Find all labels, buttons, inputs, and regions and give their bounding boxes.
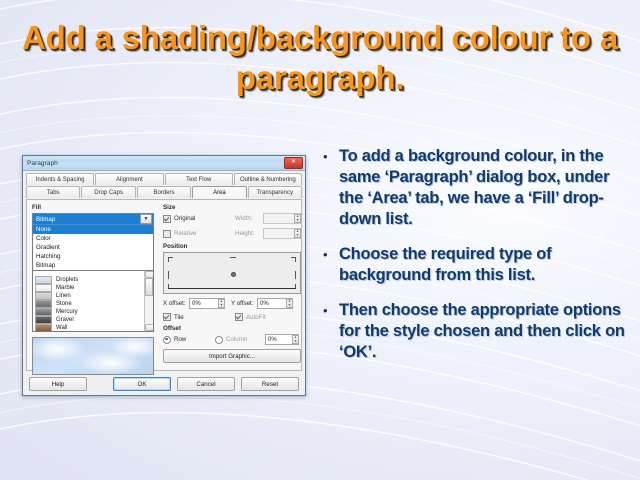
anchor-baseline (168, 288, 296, 289)
bitmap-swatch-icon (35, 308, 52, 316)
fill-option-gradient[interactable]: Gradient (33, 243, 153, 252)
y-offset-input[interactable]: 0% ▲▼ (257, 298, 293, 309)
size-section-label: Size (163, 204, 301, 211)
y-offset-label: Y offset: (231, 300, 257, 307)
bitmap-item-label: Gravel (56, 317, 74, 323)
scroll-up-icon[interactable]: ▲ (145, 271, 154, 278)
fill-section-label: Fill (32, 204, 154, 211)
anchor-top-right[interactable] (291, 257, 296, 262)
fill-section: Fill Bitmap ▼ None Color Gradient Hatchi… (32, 204, 154, 375)
offset-column-label: Column (226, 336, 247, 343)
help-button[interactable]: Help (29, 377, 87, 391)
width-label: Width: (235, 215, 263, 222)
size-position-section: Size Original Width: ▲▼ Relative Height: (163, 204, 301, 363)
tile-label: Tile (174, 314, 184, 321)
bullet-item: • To add a background colour, in the sam… (320, 146, 626, 230)
bitmap-item-label: Wall (56, 325, 67, 331)
cancel-button[interactable]: Cancel (177, 377, 235, 391)
anchor-middle-right[interactable] (291, 271, 296, 279)
relative-label: Relative (174, 230, 196, 237)
dialog-footer: Help OK Cancel Reset (23, 373, 305, 395)
bitmap-item-wall[interactable]: Wall (33, 324, 144, 332)
bitmap-list-items: Droplets Marble Linen Stone (33, 271, 144, 331)
tab-tabs[interactable]: Tabs (26, 186, 80, 198)
bitmap-item-label: Stone (56, 301, 72, 307)
tab-alignment[interactable]: Alignment (95, 173, 163, 185)
bitmap-item-stone[interactable]: Stone (33, 300, 144, 308)
scroll-down-icon[interactable]: ▼ (145, 324, 154, 331)
bullet-text: To add a background colour, in the same … (339, 146, 626, 230)
offset-row-column-row: Row Column 0% ▲▼ (163, 334, 301, 345)
dialog-title: Paragraph (27, 160, 284, 167)
height-input[interactable]: ▲▼ (263, 228, 301, 239)
bitmap-item-label: Marble (56, 285, 74, 291)
bullet-item: • Then choose the appropriate options fo… (320, 300, 626, 363)
autofit-label: AutoFit (246, 314, 266, 321)
position-anchor-grid[interactable] (163, 252, 301, 294)
offset-value-input[interactable]: 0% ▲▼ (265, 334, 299, 345)
tile-autofit-row: Tile AutoFit (163, 313, 301, 321)
bitmap-swatch-icon (35, 316, 52, 324)
bullet-text: Then choose the appropriate options for … (339, 300, 626, 363)
fill-option-none[interactable]: None (33, 225, 153, 234)
bullet-text: Choose the required type of background f… (339, 244, 626, 286)
fill-preview (32, 337, 154, 375)
bitmap-swatch-icon (35, 276, 52, 284)
x-offset-label: X offset: (163, 300, 189, 307)
bitmap-list-scrollbar[interactable]: ▲ ▼ (144, 271, 153, 331)
autofit-checkbox[interactable] (235, 313, 243, 321)
width-input[interactable]: ▲▼ (263, 213, 301, 224)
tab-text-flow[interactable]: Text Flow (165, 173, 233, 185)
bitmap-swatch-icon (35, 292, 52, 300)
size-relative-row: Relative Height: ▲▼ (163, 228, 301, 239)
relative-checkbox[interactable] (163, 230, 171, 238)
tab-indents-and-spacing[interactable]: Indents & Spacing (26, 173, 94, 185)
x-offset-value: 0% (190, 301, 218, 307)
bitmap-item-linen[interactable]: Linen (33, 292, 144, 300)
fill-option-bitmap[interactable]: Bitmap (33, 261, 153, 270)
original-label: Original (174, 215, 195, 222)
offset-section-label: Offset (163, 325, 301, 332)
offset-row-radio[interactable] (163, 336, 171, 344)
paragraph-dialog: Paragraph ✕ Indents & Spacing Alignment … (22, 155, 306, 396)
dialog-tabstrip: Indents & Spacing Alignment Text Flow Ou… (23, 171, 305, 198)
x-offset-input[interactable]: 0% ▲▼ (189, 298, 225, 309)
original-checkbox[interactable] (163, 215, 171, 223)
close-icon[interactable]: ✕ (284, 157, 303, 169)
y-offset-stepper[interactable]: ▲▼ (286, 299, 293, 308)
bullet-marker-icon: • (320, 244, 339, 286)
height-label: Height: (235, 230, 263, 237)
reset-button[interactable]: Reset (241, 377, 299, 391)
offset-column-radio[interactable] (215, 336, 223, 344)
tab-area[interactable]: Area (192, 186, 246, 198)
tab-row-2: Tabs Drop Caps Borders Area Transparency (26, 186, 302, 198)
offset-value: 0% (266, 337, 292, 343)
bitmap-swatch-icon (35, 324, 52, 332)
position-section-label: Position (163, 243, 301, 250)
tab-transparency[interactable]: Transparency (248, 186, 302, 198)
bitmap-swatch-icon (35, 284, 52, 292)
ok-button[interactable]: OK (113, 377, 171, 391)
x-offset-stepper[interactable]: ▲▼ (218, 299, 225, 308)
anchor-top-left[interactable] (168, 257, 173, 262)
bitmap-item-marble[interactable]: Marble (33, 284, 144, 292)
import-graphic-button[interactable]: Import Graphic... (163, 349, 301, 363)
y-offset-value: 0% (258, 301, 286, 307)
bitmap-item-label: Droplets (56, 277, 78, 283)
bullet-list: • To add a background colour, in the sam… (320, 146, 626, 377)
fill-type-combobox[interactable]: Bitmap ▼ (32, 213, 154, 225)
height-stepper[interactable]: ▲▼ (294, 229, 301, 238)
anchor-center[interactable] (231, 272, 236, 277)
bitmap-swatch-icon (35, 300, 52, 308)
scrollbar-thumb[interactable] (145, 278, 153, 296)
fill-type-value: Bitmap (33, 216, 140, 223)
bullet-marker-icon: • (320, 300, 339, 363)
bitmap-list[interactable]: Droplets Marble Linen Stone (32, 270, 154, 332)
fill-type-dropdown-list[interactable]: None Color Gradient Hatching Bitmap (32, 225, 154, 271)
tile-checkbox[interactable] (163, 313, 171, 321)
fill-option-color[interactable]: Color (33, 234, 153, 243)
fill-option-hatching[interactable]: Hatching (33, 252, 153, 261)
bitmap-item-gravel[interactable]: Gravel (33, 316, 144, 324)
offset-fields-row: X offset: 0% ▲▼ Y offset: 0% ▲▼ (163, 298, 301, 309)
bitmap-item-label: Linen (56, 293, 71, 299)
tab-row-1: Indents & Spacing Alignment Text Flow Ou… (26, 173, 302, 185)
anchor-top-center[interactable] (230, 257, 236, 262)
dialog-title-bar[interactable]: Paragraph ✕ (23, 156, 305, 171)
bullet-marker-icon: • (320, 146, 339, 230)
chevron-down-icon[interactable]: ▼ (140, 214, 152, 224)
bullet-item: • Choose the required type of background… (320, 244, 626, 286)
slide-title: Add a shading/background colour to a par… (0, 18, 640, 99)
tab-drop-caps[interactable]: Drop Caps (81, 186, 135, 198)
tab-outline-and-numbering[interactable]: Outline & Numbering (234, 173, 302, 185)
width-stepper[interactable]: ▲▼ (294, 214, 301, 223)
size-original-row: Original Width: ▲▼ (163, 213, 301, 224)
bitmap-item-label: Mercury (56, 309, 78, 315)
anchor-middle-left[interactable] (168, 271, 173, 279)
bitmap-item-droplets[interactable]: Droplets (33, 276, 144, 284)
bitmap-item-mercury[interactable]: Mercury (33, 308, 144, 316)
offset-value-stepper[interactable]: ▲▼ (292, 335, 299, 344)
tab-borders[interactable]: Borders (137, 186, 191, 198)
offset-row-label: Row (174, 336, 186, 343)
area-tab-panel: Fill Bitmap ▼ None Color Gradient Hatchi… (26, 199, 302, 371)
